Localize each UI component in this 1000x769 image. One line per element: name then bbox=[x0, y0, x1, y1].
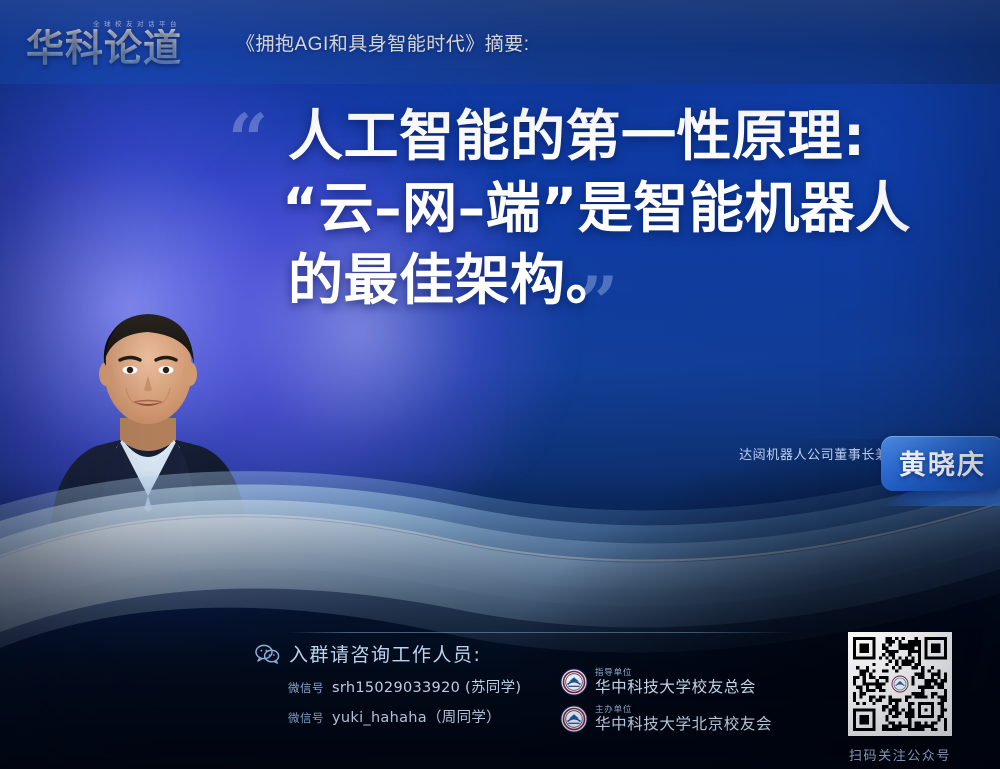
organization-text: 主办单位 华中科技大学北京校友会 bbox=[595, 706, 772, 733]
qr-caption: 扫码关注公众号 bbox=[838, 745, 962, 764]
organization-list: 指导单位 华中科技大学校友总会 主办单位 华中科技大学北京校友会 bbox=[560, 668, 772, 742]
qr-code-block: 扫码关注公众号 bbox=[838, 632, 962, 764]
contact-block: 入群请咨询工作人员: 微信号 srh15029033920 (苏同学) 微信号 … bbox=[255, 640, 575, 727]
wechat-icon bbox=[255, 644, 280, 664]
organization-item: 指导单位 华中科技大学校友总会 bbox=[560, 668, 772, 696]
university-seal-icon bbox=[560, 668, 588, 696]
speaker-nameplate: 黄晓庆 bbox=[881, 436, 1000, 491]
quote-line-1: 人工智能的第一性原理: bbox=[288, 100, 940, 172]
contact-heading-row: 入群请咨询工作人员: bbox=[255, 640, 575, 667]
university-seal-icon bbox=[560, 705, 588, 733]
qr-center-logo bbox=[889, 673, 911, 695]
organization-name: 华中科技大学校友总会 bbox=[595, 680, 756, 696]
speaker-name: 黄晓庆 bbox=[899, 450, 986, 481]
organization-text: 指导单位 华中科技大学校友总会 bbox=[595, 669, 756, 696]
wechat-id[interactable]: srh15029033920 (苏同学) bbox=[332, 676, 521, 697]
header-bar: 全球校友对话平台 华科论道 《拥抱AGI和具身智能时代》摘要: bbox=[0, 0, 1000, 84]
footer-divider bbox=[288, 632, 793, 633]
wechat-id[interactable]: yuki_hahaha（周同学） bbox=[332, 706, 501, 727]
contact-row: 微信号 srh15029033920 (苏同学) bbox=[288, 676, 575, 697]
wechat-label: 微信号 bbox=[288, 680, 324, 696]
brand-name: 华科论道 bbox=[26, 29, 218, 67]
contact-row: 微信号 yuki_hahaha（周同学） bbox=[288, 706, 575, 727]
poster-canvas: 全球校友对话平台 华科论道 《拥抱AGI和具身智能时代》摘要: “ 人工智能的第… bbox=[0, 0, 1000, 769]
qr-code-frame[interactable] bbox=[848, 632, 952, 736]
brand-logo[interactable]: 全球校友对话平台 华科论道 bbox=[26, 12, 218, 72]
contact-heading: 入群请咨询工作人员: bbox=[289, 640, 481, 667]
page-title: 《拥抱AGI和具身智能时代》摘要: bbox=[236, 29, 530, 56]
wechat-label: 微信号 bbox=[288, 710, 324, 726]
organization-kind: 指导单位 bbox=[595, 669, 756, 678]
organization-kind: 主办单位 bbox=[595, 706, 772, 715]
organization-item: 主办单位 华中科技大学北京校友会 bbox=[560, 705, 772, 733]
quote-close-icon: ” bbox=[578, 268, 618, 338]
quote-line-2: “云–网–端”是智能机器人 bbox=[282, 172, 940, 244]
organization-name: 华中科技大学北京校友会 bbox=[595, 717, 772, 733]
brand-tagline: 全球校友对话平台 bbox=[56, 18, 218, 28]
